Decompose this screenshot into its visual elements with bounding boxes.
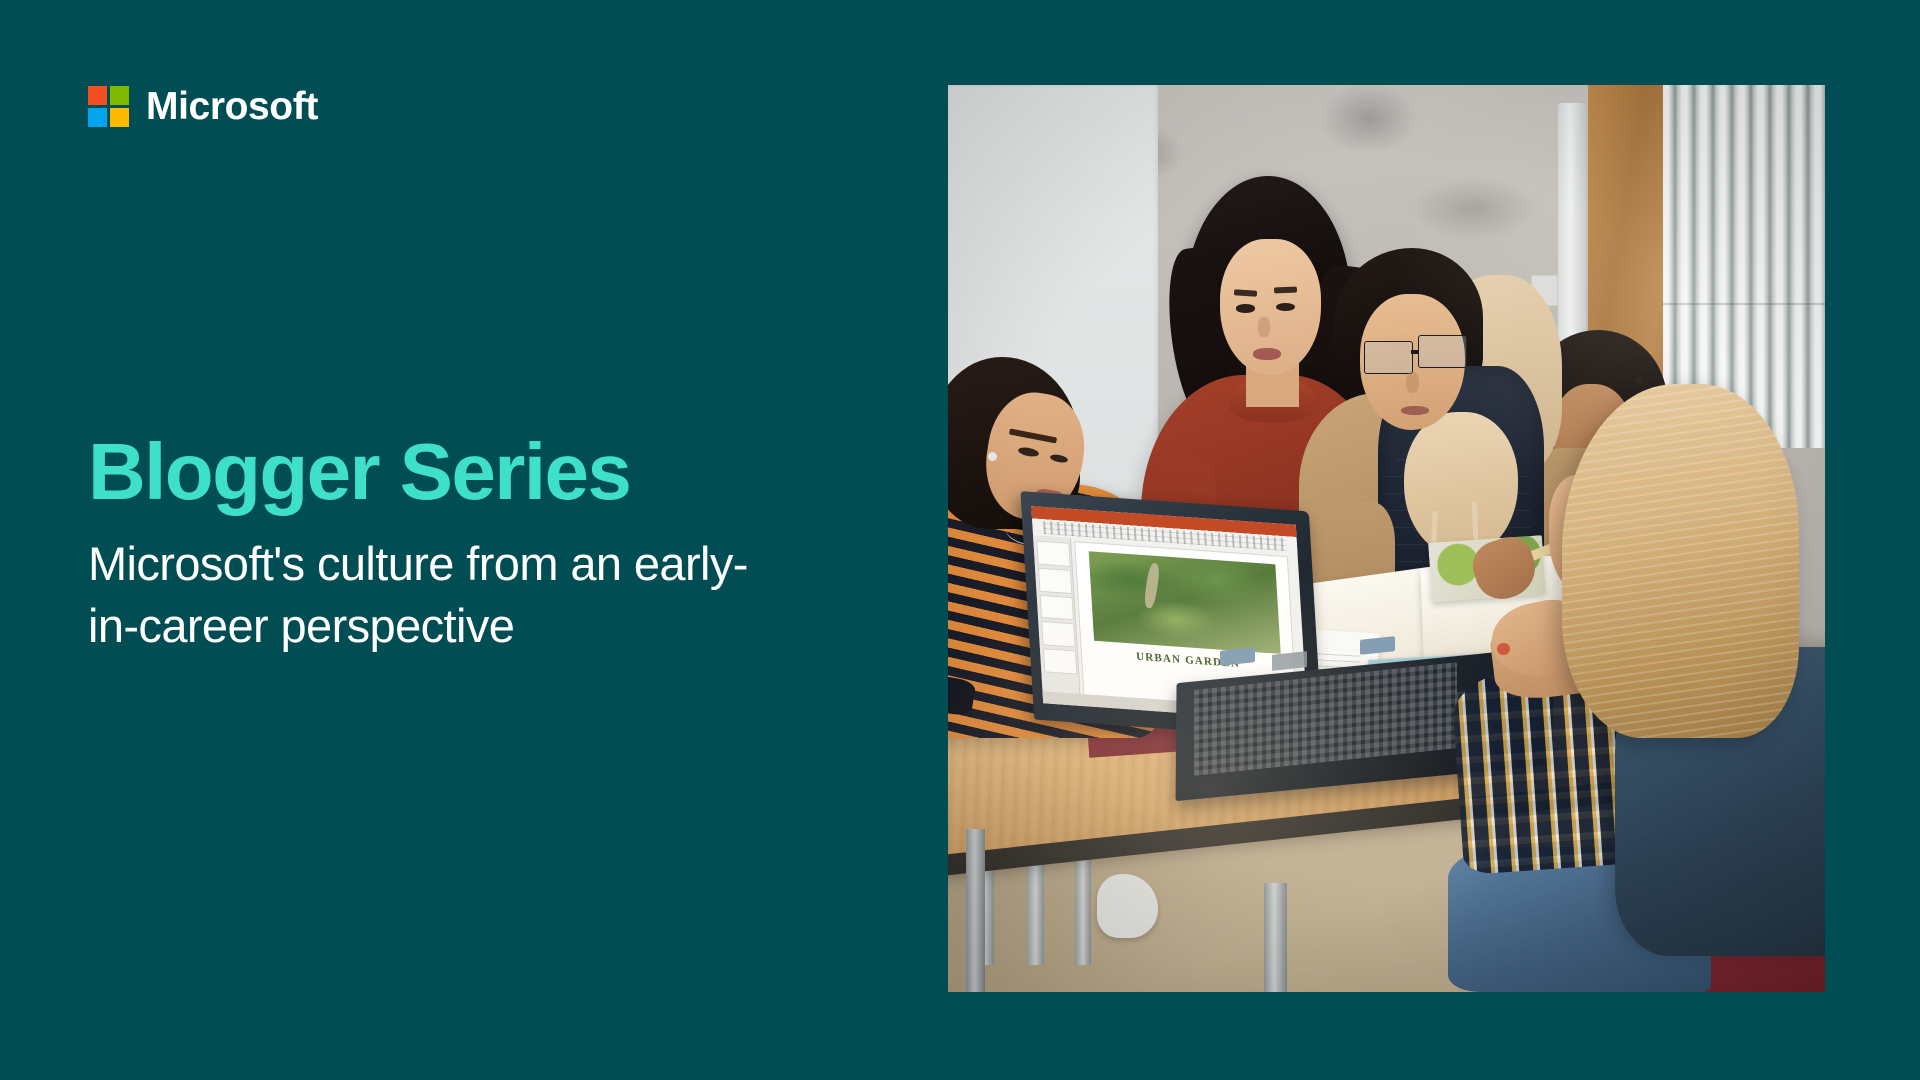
person-standing-eye <box>1236 304 1255 312</box>
table-leg <box>966 829 985 992</box>
table-leg <box>1264 883 1287 992</box>
logo-square-red <box>88 86 107 105</box>
microsoft-wordmark: Microsoft <box>146 87 318 126</box>
slide-thumbnail[interactable] <box>1043 648 1078 674</box>
slide-thumbnail[interactable] <box>1040 594 1075 620</box>
blinds-shadow-line <box>1663 303 1825 305</box>
slide-photo-path <box>1143 562 1161 610</box>
eyeglasses-lens-left <box>1364 341 1413 374</box>
slide-thumbnail[interactable] <box>1037 541 1072 567</box>
logo-square-yellow <box>110 108 129 127</box>
slide-photo <box>1089 551 1280 653</box>
microsoft-brand-lockup: Microsoft <box>88 86 318 127</box>
page-title: Blogger Series <box>88 430 868 515</box>
hero-photo: URBAN GARDEN <box>948 85 1825 992</box>
person-blonde-hair <box>1562 384 1799 738</box>
eyeglasses-lens-right <box>1418 335 1467 368</box>
eyeglasses-bridge <box>1411 350 1419 355</box>
person-glasses-mouth <box>1401 406 1429 415</box>
hero-copy-block: Blogger Series Microsoft's culture from … <box>88 430 868 658</box>
person-glasses-nose <box>1406 372 1419 394</box>
page-subtitle: Microsoft's culture from an early-in-car… <box>88 533 788 658</box>
slide-thumbnail[interactable] <box>1038 567 1073 593</box>
microsoft-logo-icon <box>88 86 129 127</box>
slide-canvas: Microsoft Blogger Series Microsoft's cul… <box>0 0 1920 1080</box>
person-standing-nose <box>1258 317 1270 337</box>
logo-square-blue <box>88 108 107 127</box>
logo-square-green <box>110 86 129 105</box>
slide-thumbnail[interactable] <box>1042 621 1077 647</box>
person-standing-mouth <box>1253 348 1281 360</box>
person-standing-eye <box>1276 303 1295 311</box>
hoodie-front <box>1404 412 1518 557</box>
